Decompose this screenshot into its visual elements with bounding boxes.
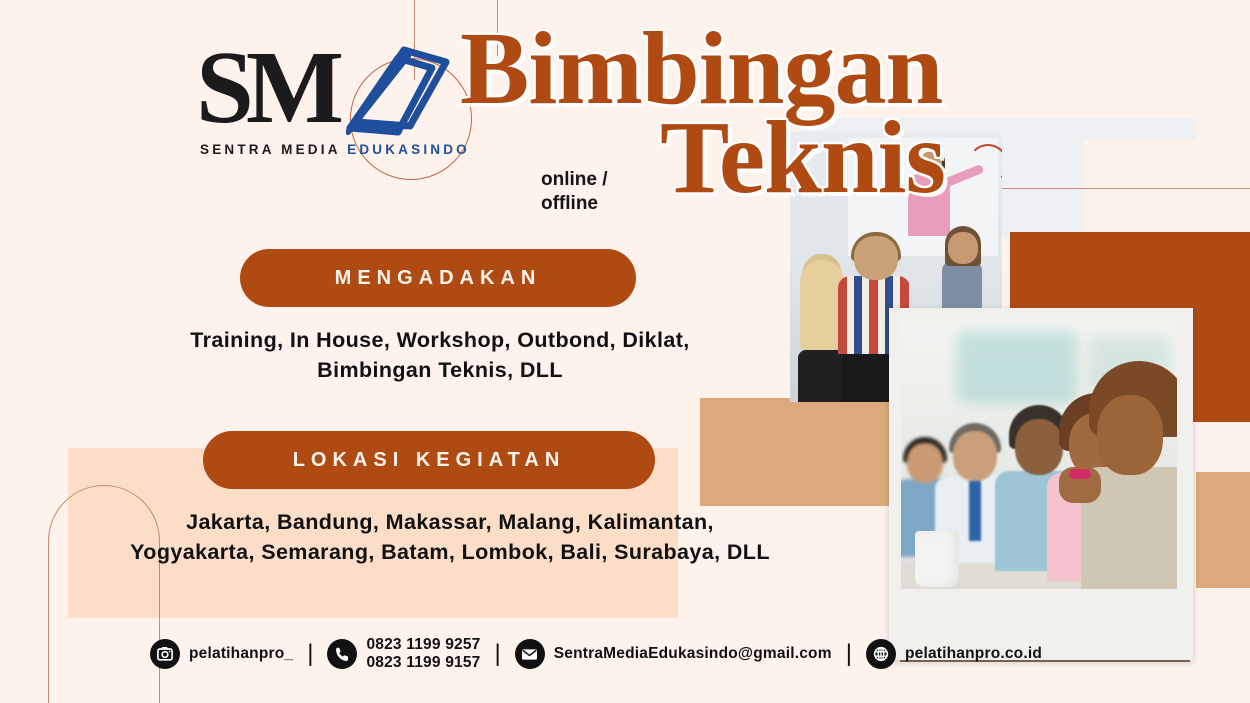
brand-tagline: SENTRA MEDIA EDUKASINDO bbox=[200, 142, 470, 157]
envelope-icon bbox=[515, 639, 545, 669]
cities-list: Jakarta, Bandung, Makassar, Malang, Kali… bbox=[60, 508, 840, 567]
instagram-handle: pelatihanpro_ bbox=[189, 645, 293, 663]
tan-block-right-decor bbox=[1196, 472, 1250, 588]
footer-separator: | bbox=[846, 640, 852, 668]
polaroid-frame bbox=[889, 308, 1193, 660]
services-line-2: Bimbingan Teknis, DLL bbox=[110, 356, 770, 386]
delivery-mode-line-2: offline bbox=[541, 192, 608, 216]
phone-numbers: 0823 1199 9257 0823 1199 9157 bbox=[366, 636, 480, 672]
contact-footer: pelatihanpro_ | 0823 1199 9257 0823 1199… bbox=[150, 636, 1042, 672]
footer-separator: | bbox=[307, 640, 313, 668]
lokasi-kegiatan-pill[interactable]: LOKASI KEGIATAN bbox=[203, 431, 655, 489]
tagline-dark: SENTRA MEDIA bbox=[200, 142, 340, 157]
poster-canvas: SM SENTRA MEDIA EDUKASINDO Bimbingan Tek… bbox=[0, 0, 1250, 703]
services-list: Training, In House, Workshop, Outbond, D… bbox=[110, 326, 770, 385]
rust-strip-decor bbox=[1196, 232, 1250, 422]
audience-figure bbox=[1087, 339, 1177, 589]
instagram-icon bbox=[150, 639, 180, 669]
brand-logo: SM SENTRA MEDIA EDUKASINDO bbox=[196, 38, 471, 156]
email-address: SentraMediaEdukasindo@gmail.com bbox=[554, 645, 832, 663]
globe-icon bbox=[866, 639, 896, 669]
coffee-cup bbox=[915, 531, 959, 587]
tagline-blue: EDUKASINDO bbox=[347, 142, 470, 157]
mengadakan-pill[interactable]: MENGADAKAN bbox=[240, 249, 636, 307]
cities-line-2: Yogyakarta, Semarang, Batam, Lombok, Bal… bbox=[60, 538, 840, 568]
footer-separator: | bbox=[494, 640, 500, 668]
services-line-1: Training, In House, Workshop, Outbond, D… bbox=[110, 326, 770, 356]
contact-phone[interactable]: 0823 1199 9257 0823 1199 9157 bbox=[327, 636, 480, 672]
contact-website[interactable]: pelatihanpro.co.id bbox=[866, 639, 1042, 669]
delivery-mode-line-1: online / bbox=[541, 168, 608, 192]
phone-number-2: 0823 1199 9157 bbox=[366, 654, 480, 672]
delivery-mode-label: online / offline bbox=[541, 168, 608, 216]
phone-icon bbox=[327, 639, 357, 669]
student-figure bbox=[940, 226, 984, 316]
contact-email[interactable]: SentraMediaEdukasindo@gmail.com bbox=[515, 639, 832, 669]
contact-instagram[interactable]: pelatihanpro_ bbox=[150, 639, 293, 669]
cities-line-1: Jakarta, Bandung, Makassar, Malang, Kali… bbox=[60, 508, 840, 538]
open-book-icon bbox=[346, 44, 456, 140]
seminar-audience-photo bbox=[901, 321, 1177, 589]
phone-number-1: 0823 1199 9257 bbox=[366, 636, 480, 654]
website-url: pelatihanpro.co.id bbox=[905, 645, 1042, 663]
logo-monogram: SM bbox=[196, 36, 336, 140]
headline-line-2: Teknis bbox=[660, 113, 1120, 202]
